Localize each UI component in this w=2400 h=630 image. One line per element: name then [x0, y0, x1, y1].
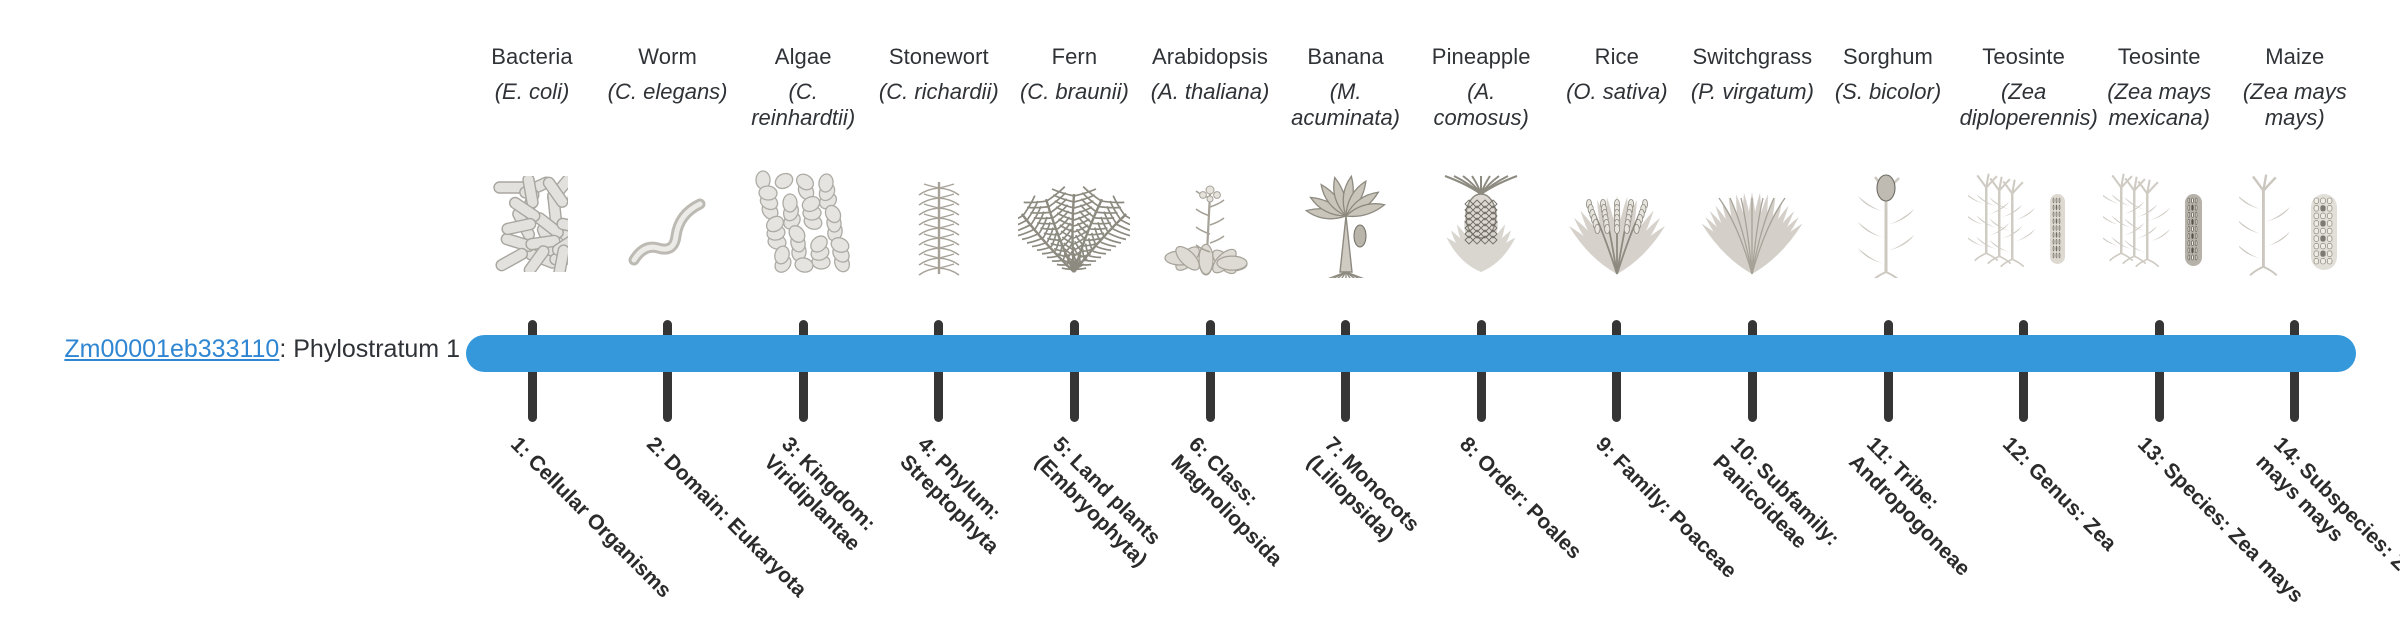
sorghum-icon: [1824, 168, 1952, 278]
rice-icon: [1553, 168, 1681, 278]
species-latin-name: (A. thaliana): [1146, 79, 1274, 105]
species-column-1: Bacteria(E. coli): [468, 44, 596, 105]
species-latin-name: (Zea mays mays): [2231, 79, 2359, 131]
species-common-name: Fern: [1010, 44, 1138, 70]
species-latin-name: (M. acuminata): [1282, 79, 1410, 131]
species-column-3: Algae(C. reinhardtii): [739, 44, 867, 131]
species-common-name: Maize: [2231, 44, 2359, 70]
species-common-name: Algae: [739, 44, 867, 70]
species-latin-name: (Zea mays mexicana): [2095, 79, 2223, 131]
species-common-name: Bacteria: [468, 44, 596, 70]
species-latin-name: (S. bicolor): [1824, 79, 1952, 105]
species-column-9: Rice(O. sativa): [1553, 44, 1681, 105]
worm-icon: [604, 168, 732, 278]
bacteria-icon: [468, 168, 596, 278]
species-column-10: Switchgrass(P. virgatum): [1688, 44, 1816, 105]
teosinte-diploperennis-icon: [1960, 168, 2088, 278]
species-column-5: Fern(C. braunii): [1010, 44, 1138, 105]
stratum-label-14: 14: Subspecies: Zea mays mays: [2250, 432, 2400, 630]
species-latin-name: (A. comosus): [1417, 79, 1545, 131]
species-column-13: Teosinte(Zea mays mexicana): [2095, 44, 2223, 131]
species-latin-name: (Zea diploperennis): [1960, 79, 2088, 131]
species-latin-name: (E. coli): [468, 79, 596, 105]
teosinte-mexicana-icon: [2095, 168, 2223, 278]
arabidopsis-icon: [1146, 168, 1274, 278]
species-column-8: Pineapple(A. comosus): [1417, 44, 1545, 131]
species-column-6: Arabidopsis(A. thaliana): [1146, 44, 1274, 105]
species-latin-name: (C. reinhardtii): [739, 79, 867, 131]
species-common-name: Teosinte: [2095, 44, 2223, 70]
fern-icon: [1010, 168, 1138, 278]
species-latin-name: (C. elegans): [604, 79, 732, 105]
stonewort-icon: [875, 168, 1003, 278]
species-latin-name: (C. richardii): [875, 79, 1003, 105]
gene-label-separator: :: [279, 335, 293, 363]
gene-phylostratum-label: Zm00001eb333110: Phylostratum 1: [40, 334, 460, 364]
species-column-2: Worm(C. elegans): [604, 44, 732, 105]
species-common-name: Worm: [604, 44, 732, 70]
species-common-name: Stonewort: [875, 44, 1003, 70]
pineapple-icon: [1417, 168, 1545, 278]
switchgrass-icon: [1688, 168, 1816, 278]
species-latin-name: (P. virgatum): [1688, 79, 1816, 105]
species-common-name: Sorghum: [1824, 44, 1952, 70]
species-common-name: Arabidopsis: [1146, 44, 1274, 70]
phylostratum-value: Phylostratum 1: [293, 335, 460, 363]
species-column-7: Banana(M. acuminata): [1282, 44, 1410, 131]
species-column-12: Teosinte(Zea diploperennis): [1960, 44, 2088, 131]
species-latin-name: (O. sativa): [1553, 79, 1681, 105]
species-column-11: Sorghum(S. bicolor): [1824, 44, 1952, 105]
species-column-4: Stonewort(C. richardii): [875, 44, 1003, 105]
algae-icon: [739, 168, 867, 278]
species-common-name: Pineapple: [1417, 44, 1545, 70]
species-common-name: Rice: [1553, 44, 1681, 70]
species-column-14: Maize(Zea mays mays): [2231, 44, 2359, 131]
phylostratum-timeline-bar[interactable]: [466, 335, 2356, 372]
species-common-name: Banana: [1282, 44, 1410, 70]
banana-icon: [1282, 168, 1410, 278]
species-common-name: Teosinte: [1960, 44, 2088, 70]
gene-id-link[interactable]: Zm00001eb333110: [64, 335, 279, 363]
phylostratum-figure: Zm00001eb333110: Phylostratum 1 Bacteria…: [0, 0, 2400, 580]
maize-icon: [2231, 168, 2359, 278]
species-latin-name: (C. braunii): [1010, 79, 1138, 105]
species-common-name: Switchgrass: [1688, 44, 1816, 70]
